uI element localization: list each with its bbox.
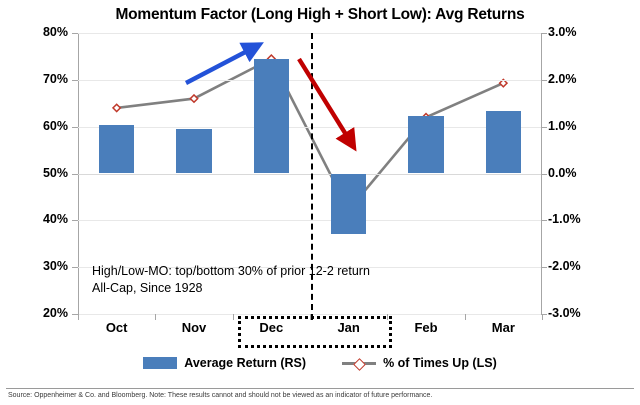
bar-mar [486, 111, 522, 174]
right-axis-label: -3.0% [548, 306, 608, 320]
x-axis-tick [542, 314, 543, 320]
line-diamond-icon [342, 357, 376, 369]
bar-swatch-icon [143, 357, 177, 369]
right-axis-label: 0.0% [548, 166, 608, 180]
axis-tick [72, 267, 78, 268]
legend-label-times-up: % of Times Up (LS) [383, 356, 497, 370]
bar-nov [176, 129, 212, 173]
gridline [78, 80, 542, 81]
right-axis-label: 2.0% [548, 72, 608, 86]
x-axis-label-feb: Feb [388, 320, 464, 335]
legend-item-times-up[interactable]: % of Times Up (LS) [342, 356, 497, 370]
footer-source-note: Source: Oppenheimer & Co. and Bloomberg.… [8, 392, 432, 399]
legend-label-average-return: Average Return (RS) [184, 356, 306, 370]
right-axis-label: 1.0% [548, 119, 608, 133]
diamond-marker-icon [353, 358, 366, 371]
chart-note-line1: High/Low-MO: top/bottom 30% of prior 12-… [92, 263, 370, 280]
axis-tick [541, 80, 547, 81]
gridline [78, 174, 542, 175]
axis-tick [541, 174, 547, 175]
gridline [78, 33, 542, 34]
left-axis-label: 30% [22, 259, 68, 273]
left-axis-label: 60% [22, 119, 68, 133]
legend-item-average-return[interactable]: Average Return (RS) [143, 356, 306, 370]
chart-title: Momentum Factor (Long High + Short Low):… [0, 6, 640, 24]
line-path [117, 59, 504, 210]
line-marker-oct [113, 104, 120, 111]
chart-note-line2: All-Cap, Since 1928 [92, 280, 370, 297]
axis-tick [541, 220, 547, 221]
x-axis-label-mar: Mar [465, 320, 541, 335]
right-axis-label: -2.0% [548, 259, 608, 273]
axis-tick [72, 220, 78, 221]
x-axis-label-oct: Oct [79, 320, 155, 335]
gridline [78, 127, 542, 128]
bar-feb [408, 116, 444, 174]
right-axis-label: 3.0% [548, 25, 608, 39]
left-axis-label: 40% [22, 212, 68, 226]
left-axis-label: 20% [22, 306, 68, 320]
right-axis-label: -1.0% [548, 212, 608, 226]
bar-dec [254, 59, 290, 174]
axis-tick [72, 33, 78, 34]
left-axis-label: 80% [22, 25, 68, 39]
axis-tick [541, 267, 547, 268]
bar-oct [99, 125, 135, 174]
footer-divider [6, 388, 634, 389]
x-axis-label-dec: Dec [233, 320, 309, 335]
axis-tick [72, 80, 78, 81]
bar-jan [331, 174, 367, 235]
axis-tick [541, 33, 547, 34]
chart-legend: Average Return (RS) % of Times Up (LS) [0, 356, 640, 370]
gridline [78, 220, 542, 221]
left-axis-label: 50% [22, 166, 68, 180]
chart-note: High/Low-MO: top/bottom 30% of prior 12-… [92, 263, 370, 297]
axis-tick [72, 174, 78, 175]
x-axis-label-jan: Jan [311, 320, 387, 335]
axis-tick [541, 127, 547, 128]
left-axis-label: 70% [22, 72, 68, 86]
chart-page: Momentum Factor (Long High + Short Low):… [0, 0, 640, 405]
axis-tick [72, 127, 78, 128]
x-axis-label-nov: Nov [156, 320, 232, 335]
